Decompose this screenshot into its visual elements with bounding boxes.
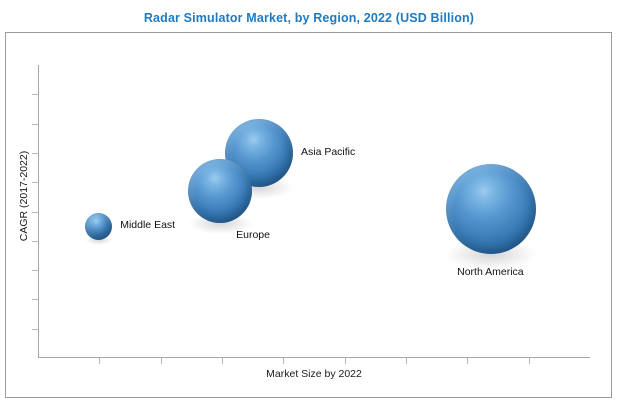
x-axis-line — [38, 357, 590, 358]
bubble-label: Middle East — [120, 219, 175, 231]
x-axis-label: Market Size by 2022 — [38, 368, 590, 380]
x-axis-tick — [99, 358, 100, 364]
y-axis-tick — [32, 182, 38, 183]
x-axis-tick — [283, 358, 284, 364]
x-axis-tick — [345, 358, 346, 364]
y-axis-tick — [32, 212, 38, 213]
y-axis-tick — [32, 153, 38, 154]
x-axis-tick — [529, 358, 530, 364]
x-axis-tick — [161, 358, 162, 364]
y-axis-tick — [32, 299, 38, 300]
page-title: Radar Simulator Market, by Region, 2022 … — [0, 11, 618, 25]
y-axis-line — [38, 65, 39, 358]
y-axis-tick — [32, 94, 38, 95]
x-axis-tick — [406, 358, 407, 364]
bubble-label: Europe — [236, 229, 270, 241]
bubble-europe[interactable] — [188, 159, 252, 223]
y-axis-tick — [32, 270, 38, 271]
y-axis-label: CAGR (2017-2022) — [18, 106, 30, 286]
y-axis-tick — [32, 124, 38, 125]
x-axis-tick — [222, 358, 223, 364]
y-axis-tick — [32, 241, 38, 242]
bubble-north-america[interactable] — [446, 164, 536, 254]
bubble-label: North America — [457, 266, 524, 278]
y-axis-tick — [32, 329, 38, 330]
x-axis-tick — [467, 358, 468, 364]
bubble-middle-east[interactable] — [85, 213, 112, 240]
bubble-label: Asia Pacific — [301, 146, 355, 158]
